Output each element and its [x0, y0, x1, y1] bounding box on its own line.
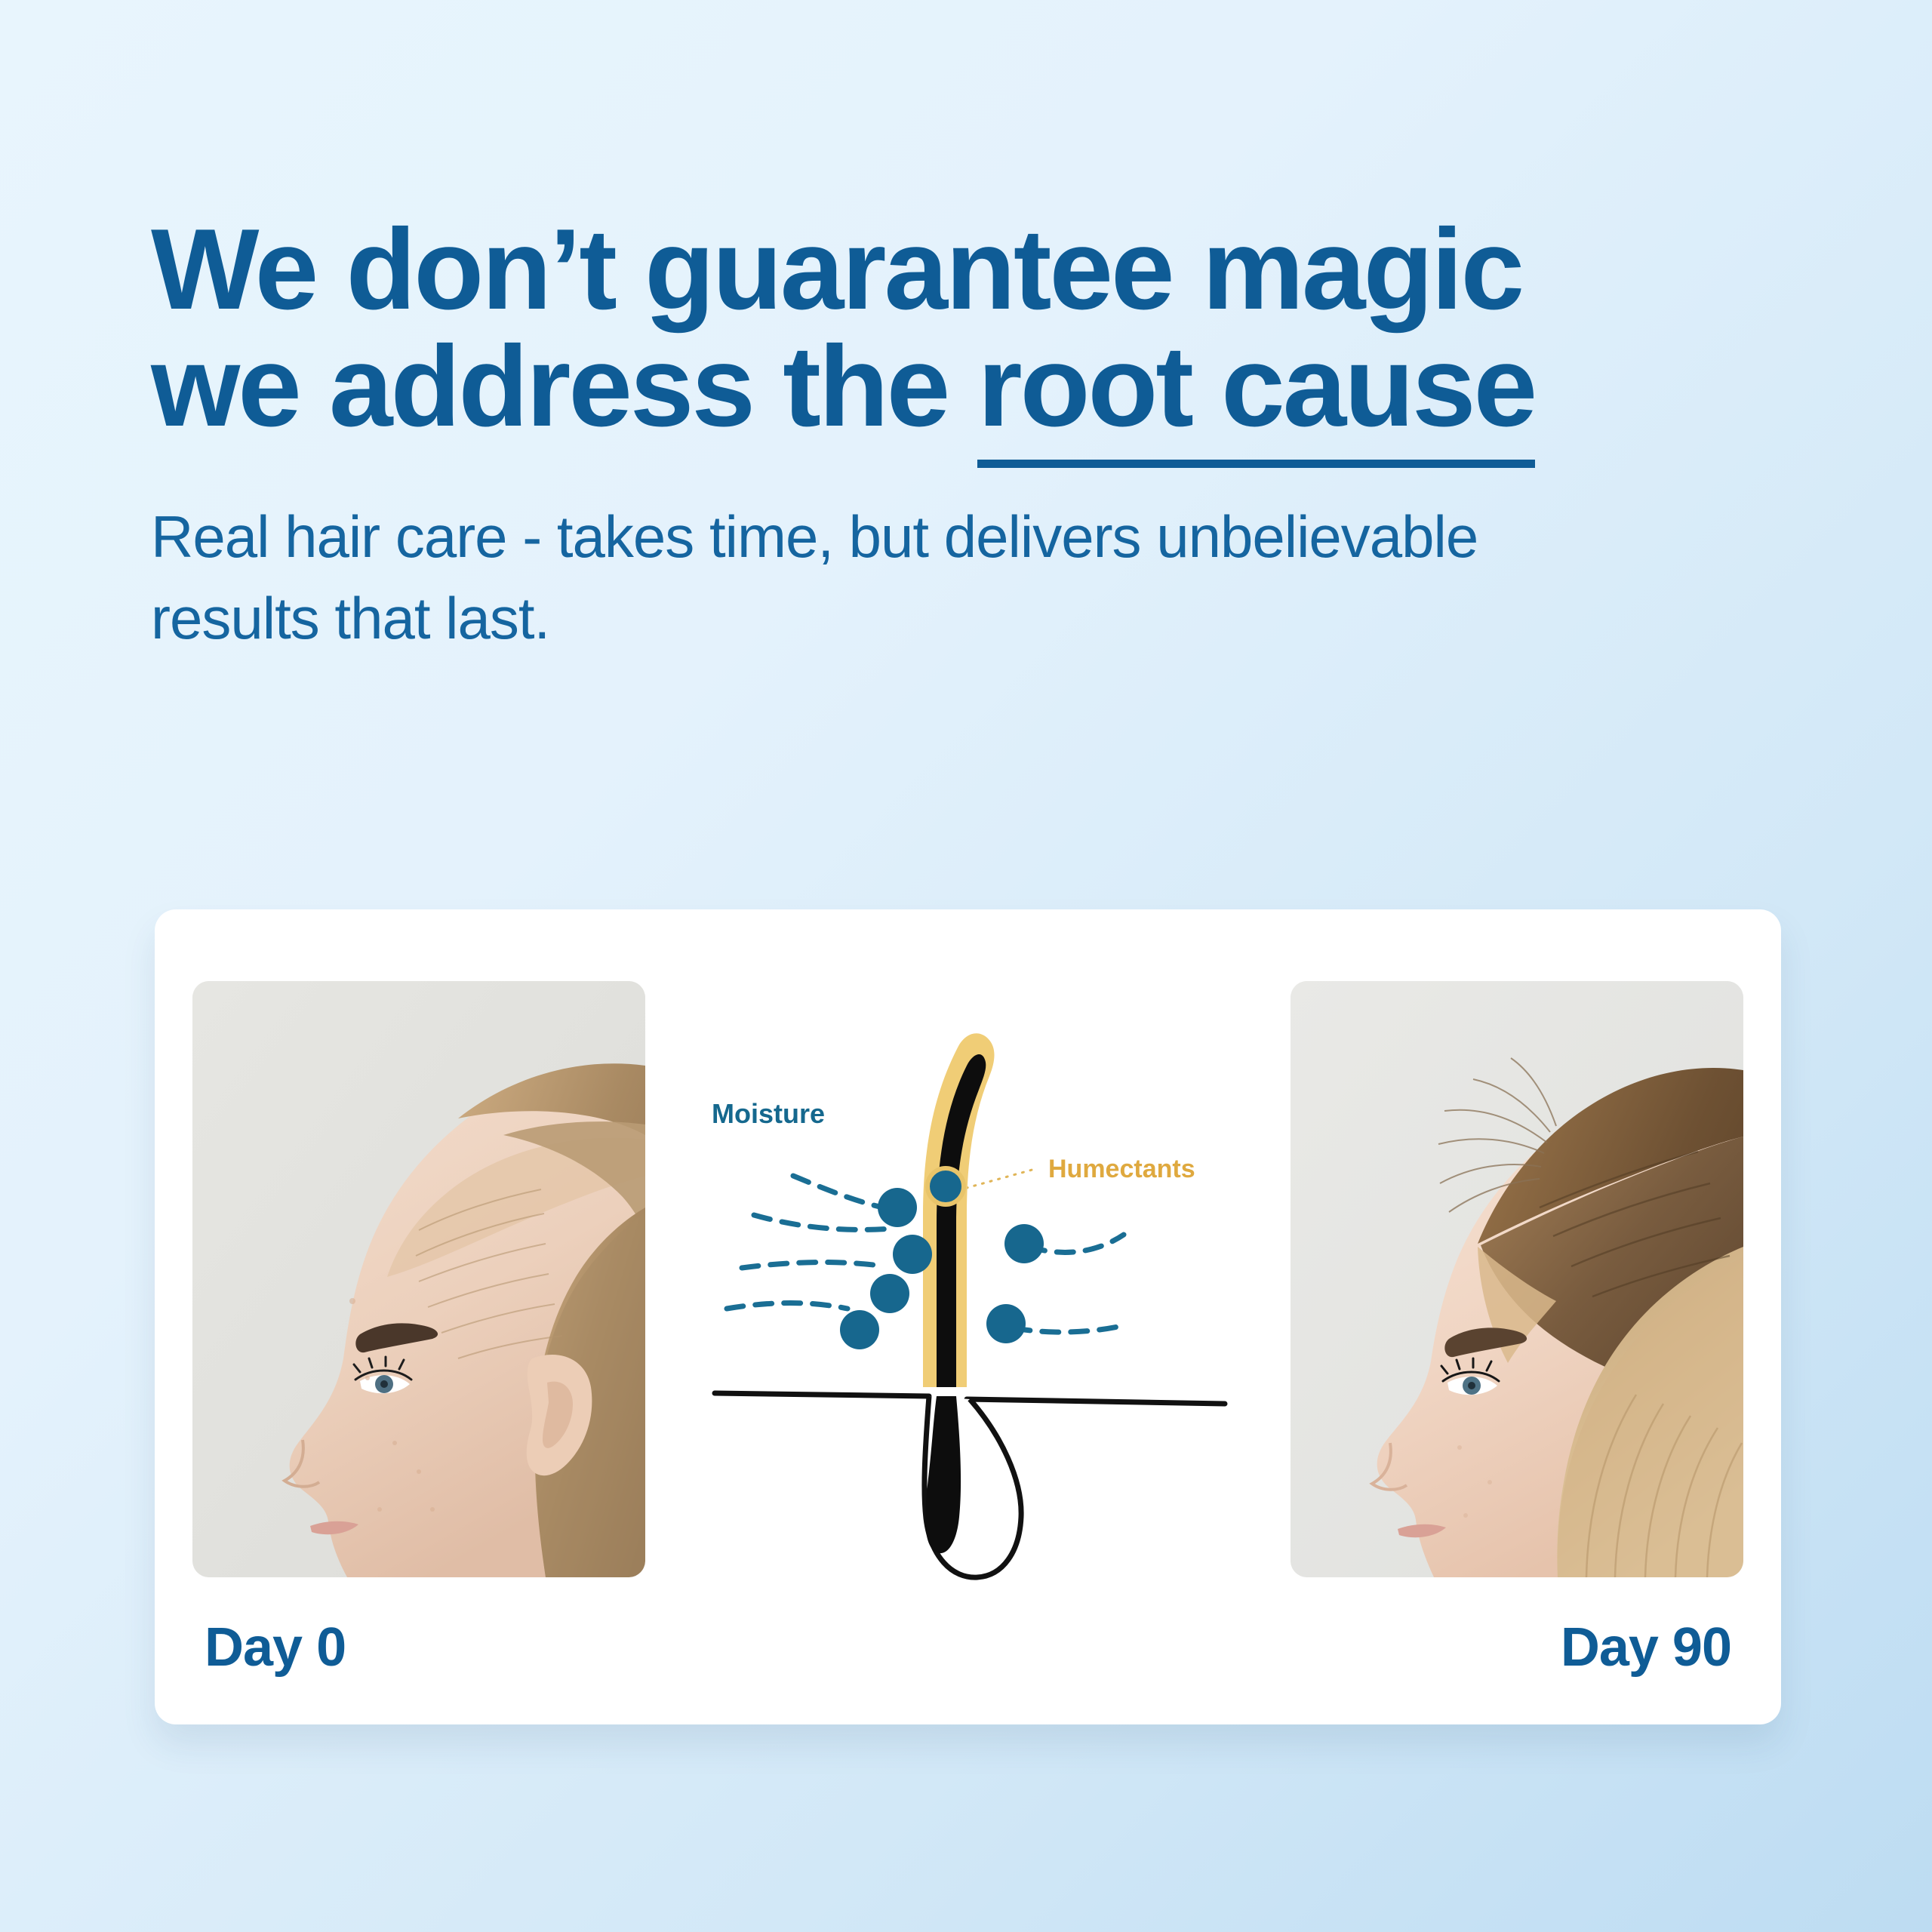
headline-line-1: We don’t guarantee magic	[151, 211, 1796, 328]
before-day-label: Day 0	[192, 1617, 645, 1678]
page-subtitle: Real hair care - takes time, but deliver…	[151, 497, 1509, 659]
absorbing-droplet	[928, 1168, 964, 1204]
after-photo	[1291, 981, 1743, 1577]
before-photo	[192, 981, 645, 1577]
moisture-streams-left	[727, 1176, 891, 1309]
header-block: We don’t guarantee magic we address the …	[151, 211, 1796, 659]
headline-line-2-prefix: we address the	[151, 322, 977, 451]
after-pane: Day 90	[1291, 981, 1743, 1678]
after-day-label: Day 90	[1291, 1617, 1743, 1678]
subtitle-line-1: Real hair care - takes time, but deliver…	[151, 503, 1141, 570]
page-title: We don’t guarantee magic we address the …	[151, 211, 1796, 445]
humectants-label: Humectants	[1048, 1155, 1195, 1183]
before-after-card: Day 0	[155, 909, 1781, 1724]
headline-emphasis-root-cause: root cause	[977, 322, 1535, 468]
before-pane: Day 0	[192, 981, 645, 1678]
hair-follicle-diagram: Moisture Humectants	[697, 989, 1240, 1615]
moisture-label: Moisture	[712, 1098, 825, 1129]
headline-line-2: we address the root cause	[151, 328, 1796, 445]
